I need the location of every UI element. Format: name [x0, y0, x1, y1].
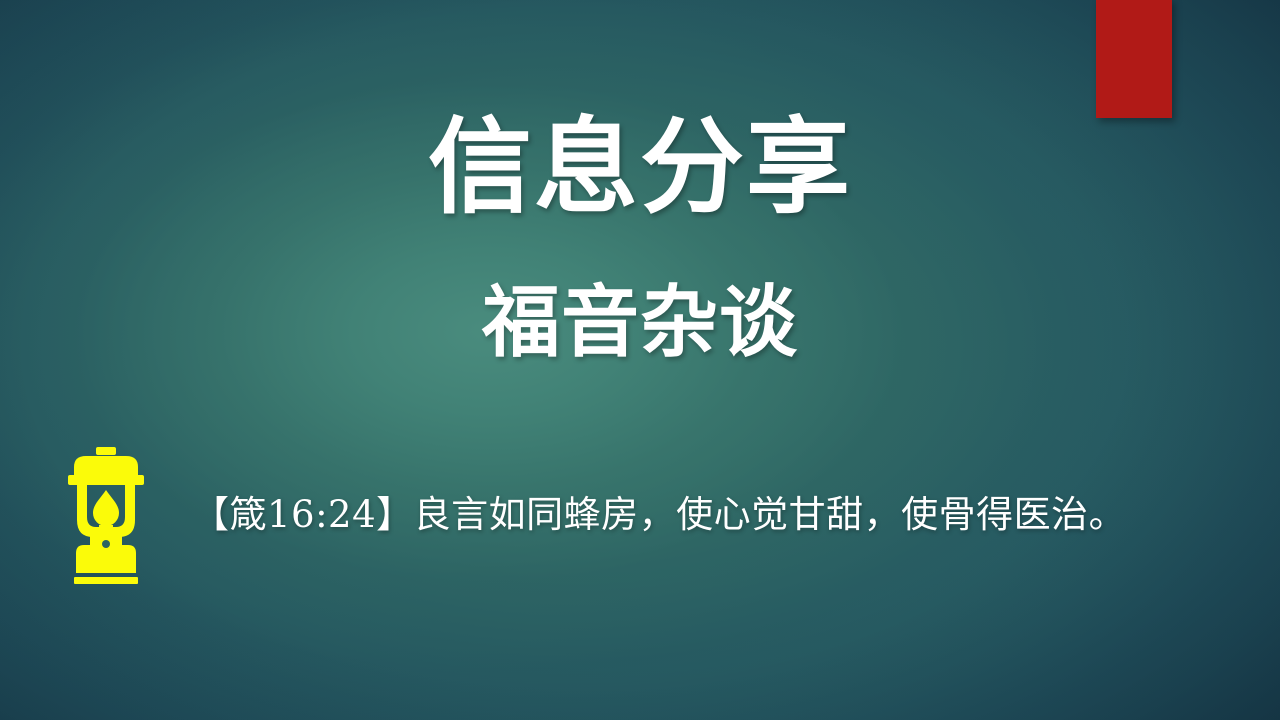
- oil-lamp-icon: [60, 445, 152, 585]
- verse-row: 【箴16:24】良言如同蜂房，使心觉甘甜，使骨得医治。: [60, 440, 1240, 590]
- page-subtitle: 福音杂谈: [0, 280, 1280, 364]
- red-accent-block: [1096, 0, 1172, 118]
- presentation-slide: 信息分享 福音杂谈: [0, 0, 1280, 720]
- page-title: 信息分享: [0, 112, 1280, 224]
- verse-text: 【箴16:24】良言如同蜂房，使心觉甘甜，使骨得医治。: [162, 492, 1240, 538]
